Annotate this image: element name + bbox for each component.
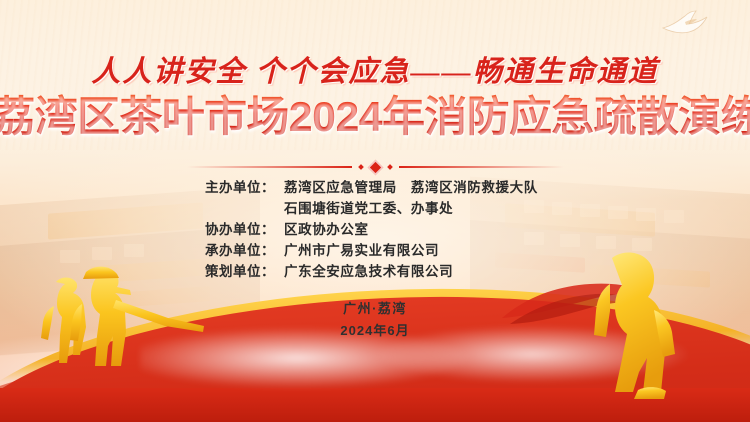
divider-line-left xyxy=(187,166,352,168)
organizer-row: 策划单位： 广东全安应急技术有限公司 xyxy=(189,260,561,280)
organizer-label: 策划单位： xyxy=(189,260,275,280)
organizer-value: 广东全安应急技术有限公司 xyxy=(275,260,561,280)
divider-dot-right xyxy=(387,164,393,170)
organizer-row: 石围塘街道党工委、办事处 xyxy=(189,197,561,217)
organizer-row: 主办单位： 荔湾区应急管理局 荔湾区消防救援大队 xyxy=(189,176,561,196)
organizer-value: 石围塘街道党工委、办事处 xyxy=(275,197,561,217)
organizer-list: 主办单位： 荔湾区应急管理局 荔湾区消防救援大队 石围塘街道党工委、办事处 协办… xyxy=(0,176,750,281)
organizer-row: 协办单位： 区政协办公室 xyxy=(189,218,561,238)
poster-subtitle: 人人讲安全 个个会应急——畅通生命通道 xyxy=(0,48,750,90)
event-date: 2024年6月 xyxy=(0,320,750,339)
organizer-value: 广州市广易实业有限公司 xyxy=(275,239,561,259)
organizer-label: 协办单位： xyxy=(189,218,275,238)
poster-main-title: 荔湾区茶叶市场2024年消防应急疏散演练 xyxy=(0,94,750,139)
divider-diamond xyxy=(367,159,383,175)
divider-dot-left xyxy=(358,164,364,170)
title-block: 人人讲安全 个个会应急——畅通生命通道 荔湾区茶叶市场2024年消防应急疏散演练 xyxy=(0,0,750,139)
event-location: 广州·荔湾 xyxy=(0,298,750,317)
organizer-label: 主办单位： xyxy=(189,176,275,196)
organizer-row: 承办单位： 广州市广易实业有限公司 xyxy=(189,239,561,259)
ornamental-divider xyxy=(0,160,750,174)
divider-line-right xyxy=(399,166,564,168)
organizer-value: 区政协办公室 xyxy=(275,218,561,238)
poster-canvas: 人人讲安全 个个会应急——畅通生命通道 荔湾区茶叶市场2024年消防应急疏散演练… xyxy=(0,0,750,422)
organizer-label: 承办单位： xyxy=(189,239,275,259)
organizer-value: 荔湾区应急管理局 荔湾区消防救援大队 xyxy=(275,176,561,196)
